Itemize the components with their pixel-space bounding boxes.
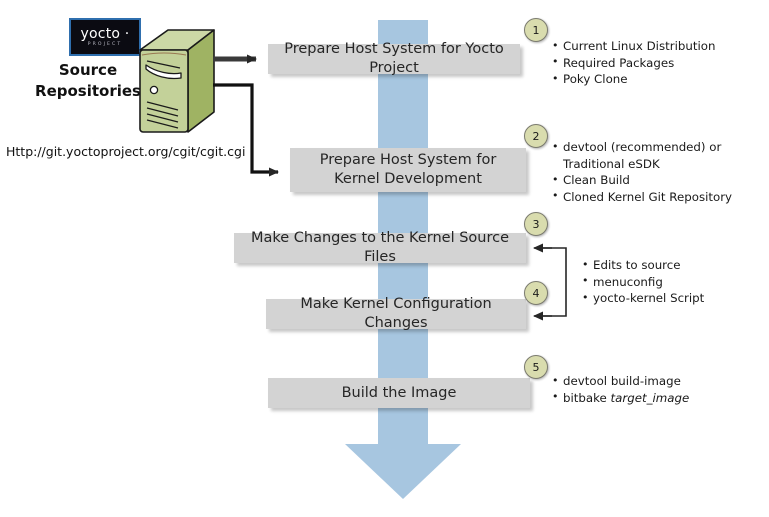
yocto-logo-wordmark: yocto ·	[81, 27, 130, 41]
note-item: Current Linux Distribution	[552, 38, 715, 55]
note-item: menuconfig	[582, 274, 704, 291]
process-box-build-image[interactable]: Build the Image	[268, 378, 530, 408]
note-item: yocto-kernel Script	[582, 290, 704, 307]
note-item: Clean Build	[552, 172, 732, 189]
source-repository-url: Http://git.yoctoproject.org/cgit/cgit.cg…	[6, 144, 245, 159]
step-marker-3: 3	[524, 212, 548, 236]
note-item-prefix: bitbake	[563, 391, 611, 405]
notes-step-1: Current Linux Distribution Required Pack…	[552, 38, 715, 88]
note-item: Cloned Kernel Git Repository	[552, 189, 732, 206]
notes-step-2: devtool (recommended) or Traditional eSD…	[552, 139, 732, 205]
process-box-prepare-host-yocto[interactable]: Prepare Host System for Yocto Project	[268, 44, 520, 74]
yocto-logo-subtext: PROJECT	[88, 43, 123, 48]
note-item-text: devtool (recommended) or	[563, 140, 721, 154]
note-item: Required Packages	[552, 55, 715, 72]
note-item: devtool (recommended) or Traditional eSD…	[552, 139, 732, 172]
diagram-canvas: yocto · PROJECT Source Repositories Http…	[0, 0, 769, 517]
step-marker-1: 1	[524, 18, 548, 42]
note-item: Edits to source	[582, 257, 704, 274]
note-item-continuation: Traditional eSDK	[563, 156, 732, 173]
process-box-make-config-changes[interactable]: Make Kernel Configuration Changes	[266, 299, 526, 329]
note-item: devtool build-image	[552, 373, 689, 390]
step-marker-2: 2	[524, 124, 548, 148]
notes-step-5: devtool build-image bitbake target_image	[552, 373, 689, 406]
server-icon	[138, 28, 216, 140]
notes-step-3-4: Edits to source menuconfig yocto-kernel …	[582, 257, 704, 307]
note-item-emphasis: target_image	[611, 391, 690, 405]
yocto-project-logo: yocto · PROJECT	[69, 18, 141, 56]
process-box-make-source-changes[interactable]: Make Changes to the Kernel Source Files	[234, 233, 526, 263]
step-marker-5: 5	[524, 355, 548, 379]
note-item: bitbake target_image	[552, 390, 689, 407]
main-flow-arrow-head	[345, 444, 461, 499]
process-box-prepare-host-kernel[interactable]: Prepare Host System for Kernel Developme…	[290, 148, 526, 192]
step-marker-4: 4	[524, 281, 548, 305]
note-item: Poky Clone	[552, 71, 715, 88]
